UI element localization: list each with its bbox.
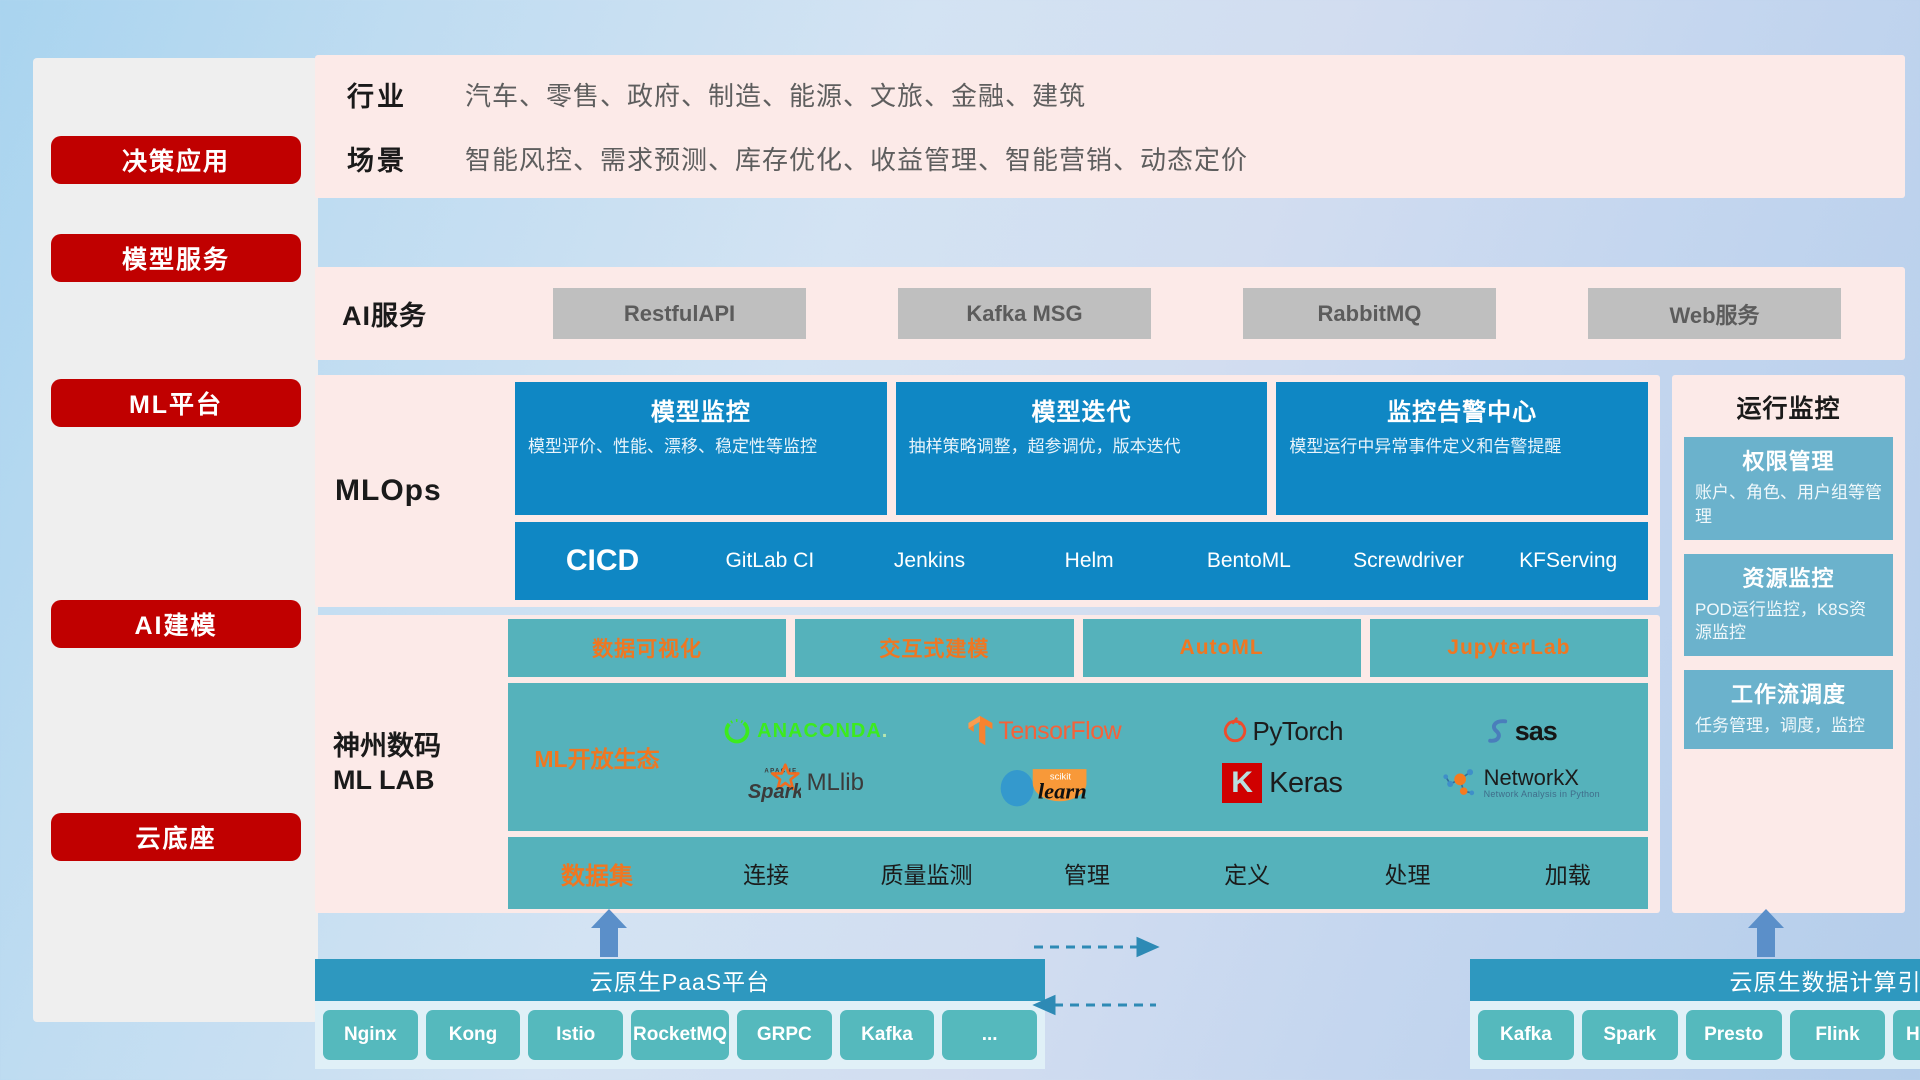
scikit-learn-logo: scikit learn (998, 757, 1090, 809)
compute-chip-spark[interactable]: Spark (1582, 1010, 1678, 1060)
industry-label: 行业 (347, 75, 465, 114)
compute-chip-presto[interactable]: Presto (1686, 1010, 1782, 1060)
industry-row: 行业 汽车、零售、政府、制造、能源、文旅、金融、建筑 (347, 72, 1248, 118)
rail-chip-ml-platform[interactable]: ML平台 (51, 379, 301, 427)
rail-chip-model-service[interactable]: 模型服务 (51, 234, 301, 282)
pytorch-logo: PyTorch (1222, 716, 1343, 747)
scenario-row: 场景 智能风控、需求预测、库存优化、收益管理、智能营销、动态定价 (347, 136, 1248, 182)
cicd-item-screwdriver[interactable]: Screwdriver (1329, 549, 1489, 572)
mlops-card-desc: 模型运行中异常事件定义和告警提醒 (1289, 435, 1635, 460)
mlops-card-desc: 抽样策略调整，超参调优，版本迭代 (909, 435, 1255, 460)
mlops-card-title: 监控告警中心 (1289, 392, 1635, 427)
dataset-item-process[interactable]: 处理 (1327, 856, 1487, 890)
networkx-logo: NetworkX Network Analysis in Python (1442, 765, 1600, 801)
ai-service-title: AI服务 (342, 294, 507, 333)
keras-logo: K Keras (1222, 763, 1342, 803)
svg-text:learn: learn (1038, 779, 1087, 804)
cicd-item-bentoml[interactable]: BentoML (1169, 549, 1329, 572)
cicd-item-helm[interactable]: Helm (1009, 549, 1169, 572)
lab-tool-interactive-modeling[interactable]: 交互式建模 (795, 619, 1073, 677)
ml-lab-band: 神州数码 ML LAB 数据可视化 交互式建模 AutoML JupyterLa… (315, 615, 1660, 913)
ai-service-chip-kafka-msg[interactable]: Kafka MSG (898, 288, 1151, 339)
monitor-card-title: 权限管理 (1695, 444, 1882, 476)
monitor-card-desc: 任务管理，调度，监控 (1695, 714, 1882, 738)
mlops-card-title: 模型迭代 (909, 392, 1255, 427)
paas-chip-nginx[interactable]: Nginx (323, 1010, 418, 1060)
dataset-item-connect[interactable]: 连接 (686, 856, 846, 890)
ai-service-band: AI服务 RestfulAPI Kafka MSG RabbitMQ Web服务 (315, 267, 1905, 360)
sas-logo: sas (1485, 716, 1557, 747)
cicd-item-jenkins[interactable]: Jenkins (850, 549, 1010, 572)
cicd-bar: CICD GitLab CI Jenkins Helm BentoML Scre… (515, 522, 1648, 600)
rail-chip-ai-modeling[interactable]: AI建模 (51, 600, 301, 648)
monitor-card-workflow-scheduling[interactable]: 工作流调度 任务管理，调度，监控 (1684, 670, 1893, 749)
cloud-paas-header: 云原生PaaS平台 (315, 959, 1045, 1001)
lab-tool-jupyterlab[interactable]: JupyterLab (1370, 619, 1648, 677)
cicd-item-gitlab-ci[interactable]: GitLab CI (690, 549, 850, 572)
ml-lab-title-line2: ML LAB (333, 764, 508, 798)
dataset-item-define[interactable]: 定义 (1167, 856, 1327, 890)
monitor-card-resource-monitoring[interactable]: 资源监控 POD运行监控，K8S资源监控 (1684, 554, 1893, 657)
ml-lab-title: 神州数码 ML LAB (333, 730, 508, 798)
runtime-monitoring-title: 运行监控 (1684, 389, 1893, 425)
tensorflow-logo: TensorFlow (966, 715, 1121, 747)
lab-tool-automl[interactable]: AutoML (1083, 619, 1361, 677)
scenario-label: 场景 (347, 139, 465, 178)
mlops-band: MLOps 模型监控 模型评价、性能、漂移、稳定性等监控 模型迭代 抽样策略调整… (315, 375, 1660, 607)
mlops-card-model-monitoring[interactable]: 模型监控 模型评价、性能、漂移、稳定性等监控 (515, 382, 887, 515)
paas-chip-rocketmq[interactable]: RocketMQ (631, 1010, 729, 1060)
cloud-native-compute-section: 云原生数据计算引擎 Kafka Spark Presto Flink Hadoo… (1470, 959, 1920, 1069)
monitor-card-title: 工作流调度 (1695, 677, 1882, 709)
rail-chip-cloud-base[interactable]: 云底座 (51, 813, 301, 861)
up-arrow-icon (1746, 909, 1786, 957)
ai-service-chip-web-service[interactable]: Web服务 (1588, 288, 1841, 339)
mlops-card-desc: 模型评价、性能、漂移、稳定性等监控 (528, 435, 874, 460)
decision-apps-band: 行业 汽车、零售、政府、制造、能源、文旅、金融、建筑 场景 智能风控、需求预测、… (315, 55, 1905, 198)
bidirectional-connectors (1030, 935, 1160, 1025)
compute-chip-hadoop[interactable]: Hadoop (1893, 1010, 1920, 1060)
compute-chip-flink[interactable]: Flink (1790, 1010, 1886, 1060)
dataset-item-manage[interactable]: 管理 (1007, 856, 1167, 890)
lab-tool-data-visualization[interactable]: 数据可视化 (508, 619, 786, 677)
scenario-values: 智能风控、需求预测、库存优化、收益管理、智能营销、动态定价 (465, 140, 1248, 177)
cicd-item-kfserving[interactable]: KFServing (1488, 549, 1648, 572)
cloud-native-paas-section: 云原生PaaS平台 Nginx Kong Istio RocketMQ GRPC… (315, 959, 1045, 1069)
dataset-bar: 数据集 连接 质量监测 管理 定义 处理 加载 (508, 837, 1648, 909)
paas-chip-more[interactable]: ... (942, 1010, 1037, 1060)
mlops-card-model-iteration[interactable]: 模型迭代 抽样策略调整，超参调优，版本迭代 (896, 382, 1268, 515)
svg-text:Spark: Spark (747, 781, 800, 803)
dataset-item-load[interactable]: 加载 (1488, 856, 1648, 890)
up-arrow-icon (589, 909, 629, 957)
monitor-card-desc: POD运行监控，K8S资源监控 (1695, 598, 1882, 646)
mlops-card-title: 模型监控 (528, 392, 874, 427)
ml-lab-title-line1: 神州数码 (333, 730, 508, 764)
cicd-label: CICD (515, 544, 690, 578)
paas-chip-grpc[interactable]: GRPC (737, 1010, 832, 1060)
ai-service-chip-restfulapi[interactable]: RestfulAPI (553, 288, 806, 339)
ml-open-ecosystem: ML开放生态 ANACONDA. TensorFlow (508, 683, 1648, 831)
monitor-card-permission-management[interactable]: 权限管理 账户、角色、用户组等管理 (1684, 437, 1893, 540)
paas-chip-kong[interactable]: Kong (426, 1010, 521, 1060)
paas-chip-istio[interactable]: Istio (528, 1010, 623, 1060)
compute-chip-kafka[interactable]: Kafka (1478, 1010, 1574, 1060)
mlops-card-alert-center[interactable]: 监控告警中心 模型运行中异常事件定义和告警提醒 (1276, 382, 1648, 515)
mlops-title: MLOps (335, 474, 515, 508)
runtime-monitoring-panel: 运行监控 权限管理 账户、角色、用户组等管理 资源监控 POD运行监控，K8S资… (1672, 375, 1905, 913)
dataset-label: 数据集 (508, 856, 686, 891)
industry-values: 汽车、零售、政府、制造、能源、文旅、金融、建筑 (465, 76, 1086, 113)
rail-chip-decision-apps[interactable]: 决策应用 (51, 136, 301, 184)
monitor-card-desc: 账户、角色、用户组等管理 (1695, 481, 1882, 529)
paas-chip-kafka[interactable]: Kafka (840, 1010, 935, 1060)
cloud-compute-header: 云原生数据计算引擎 (1470, 959, 1920, 1001)
dataset-item-quality-monitoring[interactable]: 质量监测 (846, 856, 1006, 890)
anaconda-logo: ANACONDA. (722, 716, 888, 746)
ml-open-ecosystem-label: ML开放生态 (508, 740, 686, 774)
spark-mllib-logo: APACHE Spark MLlib (747, 763, 864, 803)
ai-service-chip-rabbitmq[interactable]: RabbitMQ (1243, 288, 1496, 339)
monitor-card-title: 资源监控 (1695, 561, 1882, 593)
stack-layer-rail: 决策应用 模型服务 ML平台 AI建模 云底座 (33, 58, 318, 1022)
